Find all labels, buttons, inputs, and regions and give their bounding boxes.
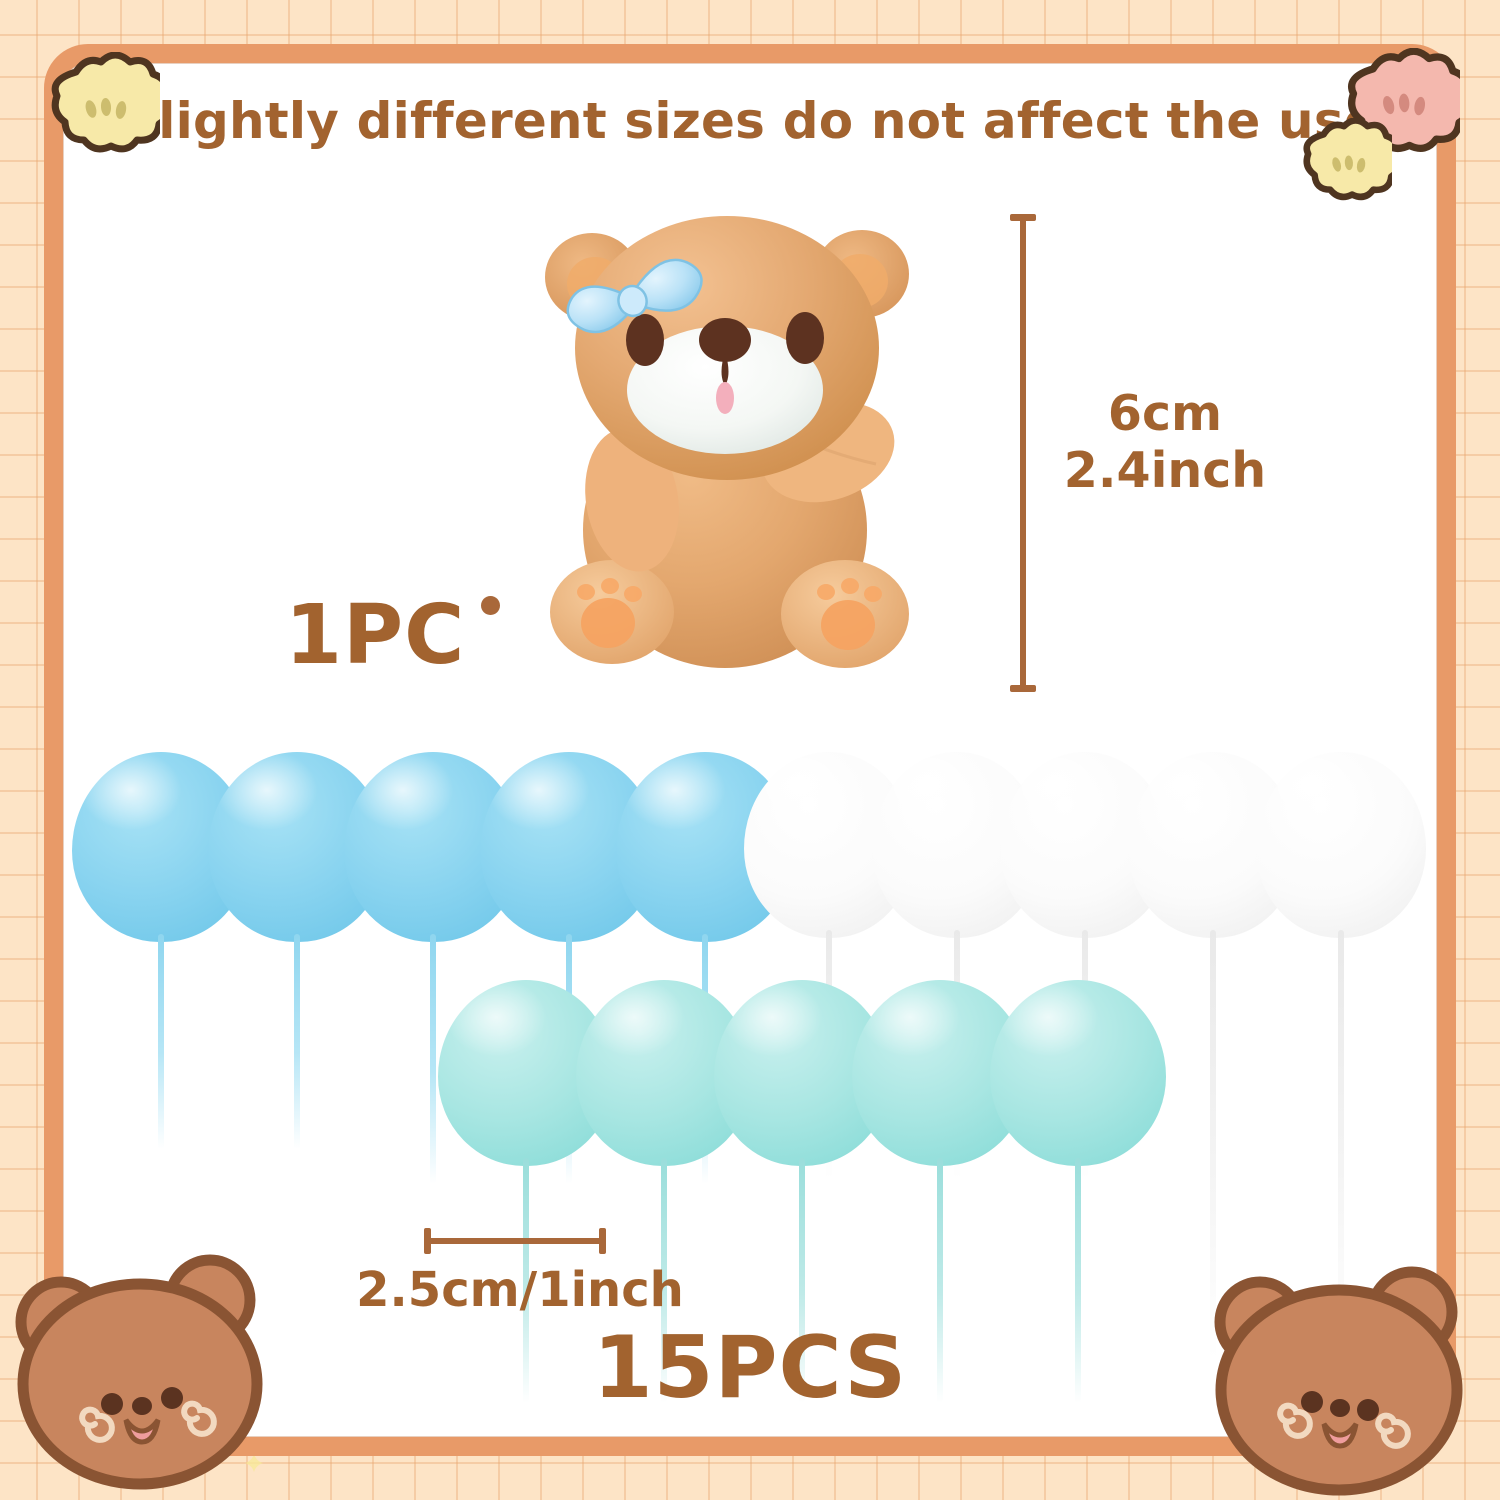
product-infographic: Slightly different sizes do not affect t… [0,0,1500,1500]
width-dimension-line [424,1228,606,1254]
height-cm: 6cm [1040,386,1290,443]
doodle-bear-head-icon [1212,1250,1484,1498]
balloon-white [1256,752,1426,938]
doodle-bear-head-icon [14,1248,286,1496]
yellow-flower-icon [42,52,160,160]
figurine-count-label: 1PC [285,588,465,683]
dimension-bar [429,1238,601,1244]
height-inch: 2.4inch [1040,443,1290,500]
height-dimension-label: 6cm 2.4inch [1040,386,1290,500]
dimension-cap-bottom [1010,685,1036,692]
white-panel: Slightly different sizes do not affect t… [63,63,1437,1437]
balloon-mint [990,980,1166,1166]
dimension-cap-right [599,1228,606,1254]
decorative-dot [481,596,500,615]
width-dimension-label: 2.5cm/1inch [330,1262,710,1318]
balloon-stem [430,934,436,1184]
balloon-body [990,980,1166,1166]
yellow-flower-icon [1296,118,1392,206]
height-dimension-line [1010,214,1036,692]
balloon-stem [294,934,300,1149]
bear-figurine [520,200,950,705]
dimension-bar [1020,219,1026,687]
balloon-stem [158,934,164,1149]
balloon-body [1256,752,1426,938]
page-title: Slightly different sizes do not affect t… [63,92,1437,150]
